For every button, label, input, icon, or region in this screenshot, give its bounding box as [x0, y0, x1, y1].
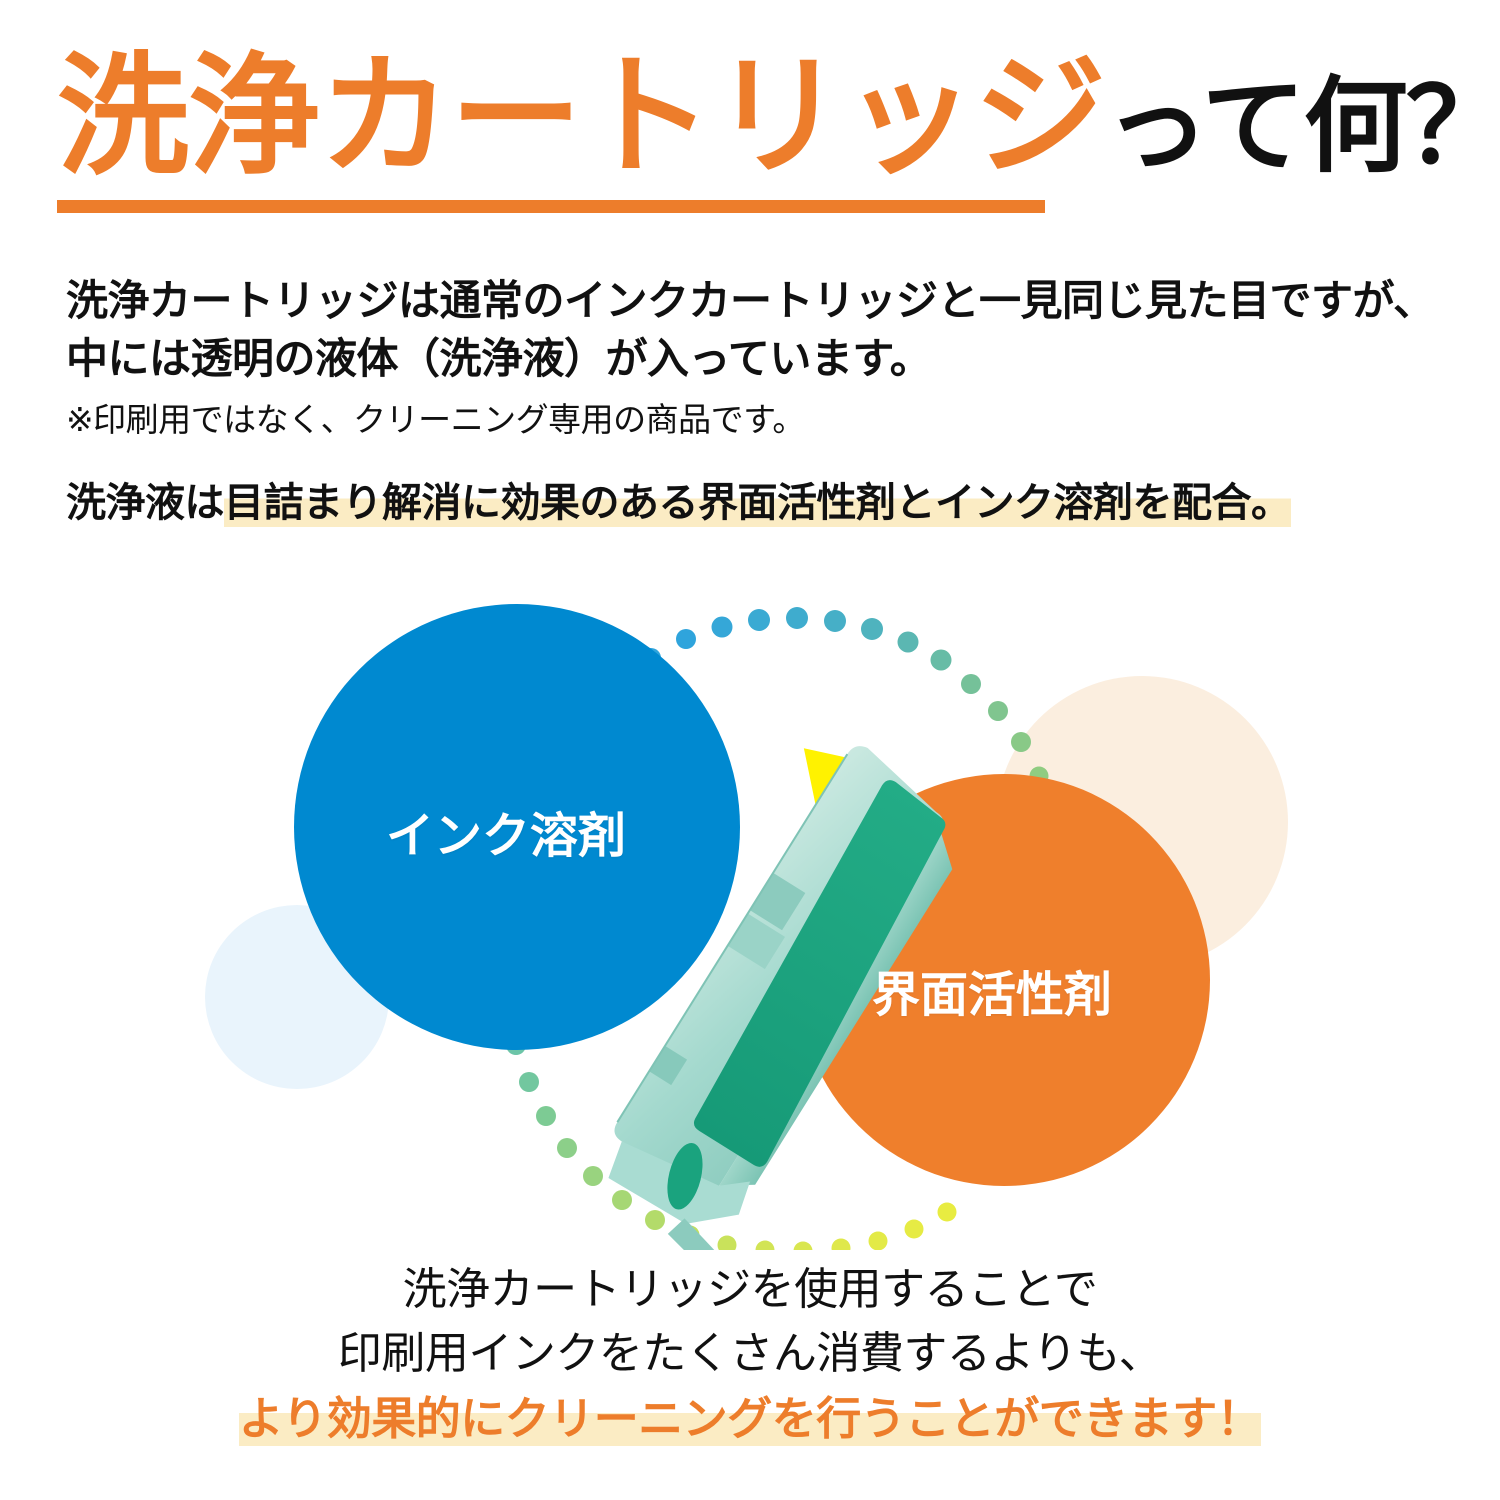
page-title-main: 洗浄カートリッジ	[57, 43, 1105, 190]
intro-line-1: 洗浄カートリッジは通常のインクカートリッジと一見同じ見た目ですが、	[66, 272, 1446, 330]
intro-line-2: 中には透明の液体（洗浄液）が入っています。	[66, 330, 1446, 388]
intro-paragraph: 洗浄カートリッジは通常のインクカートリッジと一見同じ見た目ですが、 中には透明の…	[66, 272, 1446, 446]
conclusion-line-1: 洗浄カートリッジを使用することで	[0, 1258, 1500, 1322]
page-title: 洗浄カートリッジって何？	[57, 42, 1500, 202]
conclusion-line-3: より効果的にクリーニングを行うことができます！	[0, 1386, 1500, 1452]
page-title-tail: って何？	[1105, 69, 1500, 185]
formula-prefix: 洗浄液は	[66, 481, 224, 525]
title-underline	[57, 200, 1045, 213]
title-block: 洗浄カートリッジって何？	[57, 42, 1457, 217]
conclusion-line-2: 印刷用インクをたくさん消費するよりも、	[0, 1322, 1500, 1386]
formula-highlighted: 目詰まり解消に効果のある界面活性剤とインク溶剤を配合。	[224, 481, 1291, 527]
infographic-page: 洗浄カートリッジって何？ 洗浄カートリッジは通常のインクカートリッジと一見同じ見…	[0, 0, 1500, 1500]
conclusion-block: 洗浄カートリッジを使用することで 印刷用インクをたくさん消費するよりも、 より効…	[0, 1258, 1500, 1452]
intro-note: ※印刷用ではなく、クリーニング専用の商品です。	[66, 394, 1446, 446]
venn-diagram: インク溶剤 界面活性剤	[0, 560, 1500, 1250]
surfactant-label: 界面活性剤	[872, 955, 1112, 1025]
formula-line: 洗浄液は目詰まり解消に効果のある界面活性剤とインク溶剤を配合。	[66, 478, 1291, 528]
ink-solvent-label: インク溶剤	[386, 796, 626, 866]
conclusion-line-3-text: より効果的にクリーニングを行うことができます！	[239, 1393, 1262, 1446]
